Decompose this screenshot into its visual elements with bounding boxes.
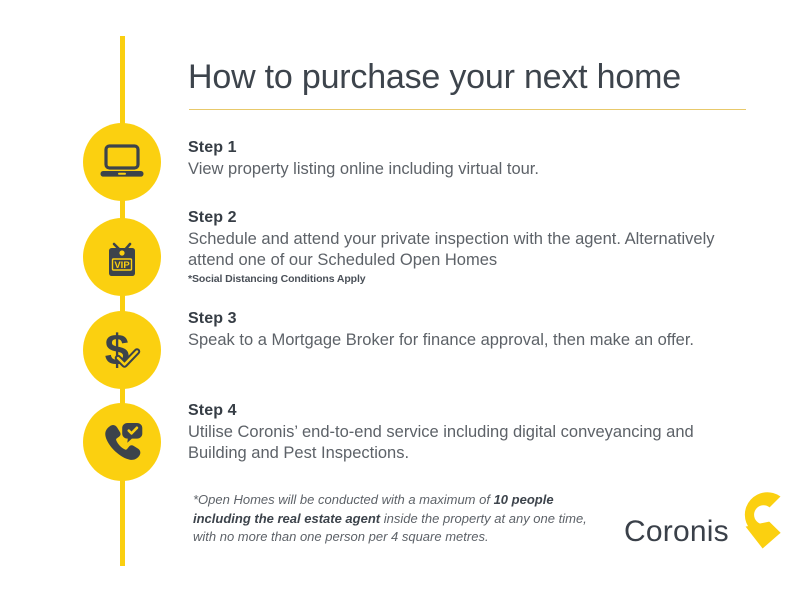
dollar-check-icon: $ bbox=[98, 325, 146, 375]
footnote-text-lead: *Open Homes will be conducted with a max… bbox=[193, 492, 494, 507]
step-2-heading: Step 2 bbox=[188, 209, 748, 227]
title-divider bbox=[189, 109, 746, 110]
coronis-logo: Coronis bbox=[624, 487, 794, 557]
step-1-icon-badge bbox=[83, 123, 161, 201]
step-1-heading: Step 1 bbox=[188, 139, 748, 157]
step-icon-column: VIP $ bbox=[0, 0, 180, 600]
step-item-3: Step 3 Speak to a Mortgage Broker for fi… bbox=[188, 310, 748, 351]
step-1-body: View property listing online including v… bbox=[188, 159, 748, 180]
step-item-1: Step 1 View property listing online incl… bbox=[188, 139, 748, 180]
step-3-icon-badge: $ bbox=[83, 311, 161, 389]
logo-wordmark: Coronis bbox=[624, 515, 729, 549]
svg-text:VIP: VIP bbox=[114, 260, 130, 271]
step-4-icon-badge bbox=[83, 403, 161, 481]
vip-tag-icon: VIP bbox=[100, 233, 144, 281]
svg-text:$: $ bbox=[105, 326, 129, 375]
laptop-icon bbox=[99, 142, 145, 182]
step-item-2: Step 2 Schedule and attend your private … bbox=[188, 209, 748, 285]
open-homes-footnote: *Open Homes will be conducted with a max… bbox=[193, 491, 603, 547]
phone-chat-check-icon bbox=[98, 419, 146, 465]
step-2-note: *Social Distancing Conditions Apply bbox=[188, 273, 748, 285]
step-3-body: Speak to a Mortgage Broker for finance a… bbox=[188, 330, 748, 351]
page-title: How to purchase your next home bbox=[188, 58, 681, 97]
step-4-body: Utilise Coronis’ end-to-end service incl… bbox=[188, 422, 748, 465]
coronis-c-pin-mark-icon bbox=[736, 488, 788, 550]
step-2-icon-badge: VIP bbox=[83, 218, 161, 296]
step-4-heading: Step 4 bbox=[188, 402, 748, 420]
infographic-page: { "title": "How to purchase your next ho… bbox=[0, 0, 800, 600]
step-item-4: Step 4 Utilise Coronis’ end-to-end servi… bbox=[188, 402, 748, 465]
step-2-body: Schedule and attend your private inspect… bbox=[188, 229, 748, 272]
step-3-heading: Step 3 bbox=[188, 310, 748, 328]
